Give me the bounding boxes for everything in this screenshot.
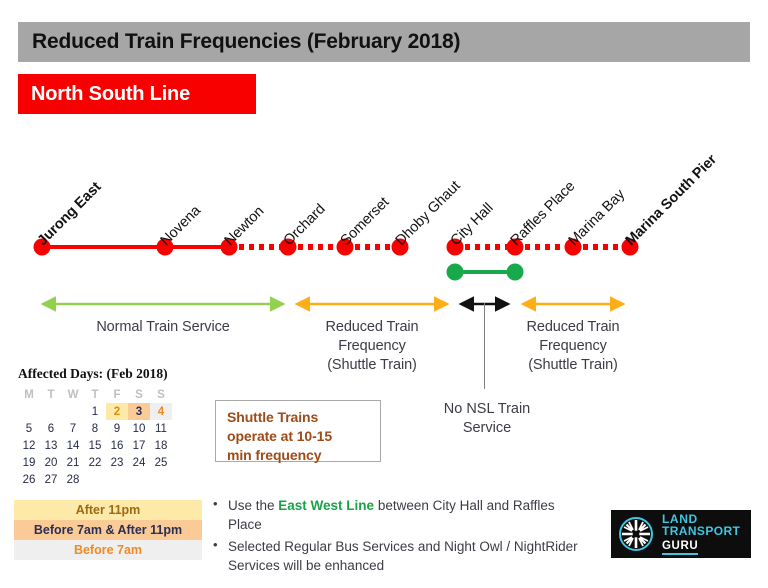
no-nsl-caption: No NSL TrainService [412, 400, 562, 438]
segment-caption: Reduced TrainFrequency(Shuttle Train) [282, 318, 462, 375]
segment-caption-line: Reduced Train [282, 318, 462, 337]
calendar-week-row: 567891011 [18, 420, 172, 437]
service-span-arrows [0, 296, 768, 320]
calendar-day: 17 [128, 437, 150, 454]
calendar-day-highlighted: 4 [150, 403, 172, 420]
no-nsl-leader-line [484, 303, 485, 389]
calendar-week-row: 19202122232425 [18, 454, 172, 471]
calendar-title: Affected Days: (Feb 2018) [18, 366, 172, 382]
advisory-bullet-list: Use the East West Line between City Hall… [212, 496, 582, 579]
shuttle-frequency-line: operate at 10-15 [227, 427, 380, 446]
line-badge: North South Line [18, 74, 256, 114]
calendar-day: 12 [18, 437, 40, 454]
segment-caption-line: (Shuttle Train) [282, 356, 462, 375]
logo-line-1: LAND [662, 513, 740, 525]
calendar-day: 1 [84, 403, 106, 420]
calendar-day [62, 403, 84, 420]
calendar-day: 16 [106, 437, 128, 454]
calendar-day: 25 [150, 454, 172, 471]
calendar-day: 15 [84, 437, 106, 454]
compass-emblem-icon [617, 515, 655, 553]
calendar-week-row: 12131415161718 [18, 437, 172, 454]
shuttle-frequency-note: Shuttle Trainsoperate at 10-15min freque… [215, 400, 381, 462]
calendar-day: 7 [62, 420, 84, 437]
logo-line-3: GURU [662, 541, 698, 556]
calendar-day-highlighted: 2 [106, 403, 128, 420]
no-nsl-caption-line: Service [412, 419, 562, 438]
calendar-day: 28 [62, 471, 84, 488]
calendar-day: 27 [40, 471, 62, 488]
segment-caption: Normal Train Service [73, 318, 253, 337]
calendar-day [40, 403, 62, 420]
shuttle-frequency-text: Shuttle Trainsoperate at 10-15min freque… [227, 408, 380, 465]
calendar-day: 19 [18, 454, 40, 471]
calendar-day [150, 471, 172, 488]
calendar-dow-header: T [40, 386, 62, 403]
calendar-dow-header: S [128, 386, 150, 403]
route-diagram: Jurong EastNovenaNewtonOrchardSomersetDh… [0, 120, 768, 295]
legend-row: Before 7am [14, 540, 202, 560]
shuttle-frequency-line: Shuttle Trains [227, 408, 380, 427]
bullet-text: Selected Regular Bus Services and Night … [228, 539, 578, 573]
calendar-day: 10 [128, 420, 150, 437]
calendar-header-row: MTWTFSS [18, 386, 172, 403]
calendar-day: 26 [18, 471, 40, 488]
calendar-day: 18 [150, 437, 172, 454]
calendar-day: 6 [40, 420, 62, 437]
legend-row: Before 7am & After 11pm [14, 520, 202, 540]
calendar-day: 8 [84, 420, 106, 437]
calendar-table: MTWTFSS123456789101112131415161718192021… [18, 386, 172, 488]
line-badge-label: North South Line [18, 83, 190, 106]
bullet-item: Selected Regular Bus Services and Night … [212, 537, 582, 575]
no-nsl-caption-line: No NSL Train [412, 400, 562, 419]
calendar-day [128, 471, 150, 488]
calendar-day: 23 [106, 454, 128, 471]
calendar-day [18, 403, 40, 420]
east-west-line-link: East West Line [278, 498, 374, 513]
land-transport-guru-logo: LAND TRANSPORT GURU [611, 510, 751, 558]
calendar-dow-header: T [84, 386, 106, 403]
segment-caption-line: Reduced Train [483, 318, 663, 337]
arrow-svg [0, 296, 768, 320]
shuttle-frequency-line: min frequency [227, 446, 380, 465]
legend-row: After 11pm [14, 500, 202, 520]
segment-caption: Reduced TrainFrequency(Shuttle Train) [483, 318, 663, 375]
calendar-day: 14 [62, 437, 84, 454]
segment-caption-line: Normal Train Service [73, 318, 253, 337]
calendar-day: 11 [150, 420, 172, 437]
slide-canvas: Reduced Train Frequencies (February 2018… [0, 0, 768, 588]
calendar-dow-header: M [18, 386, 40, 403]
calendar-week-row: 262728 [18, 471, 172, 488]
calendar-day: 20 [40, 454, 62, 471]
calendar-day: 24 [128, 454, 150, 471]
calendar-day [84, 471, 106, 488]
calendar-week-row: 1234 [18, 403, 172, 420]
calendar-day [106, 471, 128, 488]
page-title: Reduced Train Frequencies (February 2018… [18, 30, 460, 54]
logo-line-2: TRANSPORT [662, 525, 740, 537]
segment-caption-line: Frequency [483, 337, 663, 356]
calendar-day: 9 [106, 420, 128, 437]
bullet-item: Use the East West Line between City Hall… [212, 496, 582, 534]
header-bar: Reduced Train Frequencies (February 2018… [18, 22, 750, 62]
calendar-day: 22 [84, 454, 106, 471]
calendar-day: 13 [40, 437, 62, 454]
calendar-dow-header: W [62, 386, 84, 403]
calendar-day: 21 [62, 454, 84, 471]
logo-wordmark: LAND TRANSPORT GURU [662, 513, 740, 556]
segment-caption-line: Frequency [282, 337, 462, 356]
bullet-text: Use the [228, 498, 278, 513]
calendar-day: 5 [18, 420, 40, 437]
segment-caption-line: (Shuttle Train) [483, 356, 663, 375]
calendar-dow-header: F [106, 386, 128, 403]
affected-days-calendar: Affected Days: (Feb 2018) MTWTFSS1234567… [18, 366, 172, 488]
calendar-day-highlighted: 3 [128, 403, 150, 420]
time-legend: After 11pmBefore 7am & After 11pmBefore … [14, 500, 202, 560]
calendar-dow-header: S [150, 386, 172, 403]
